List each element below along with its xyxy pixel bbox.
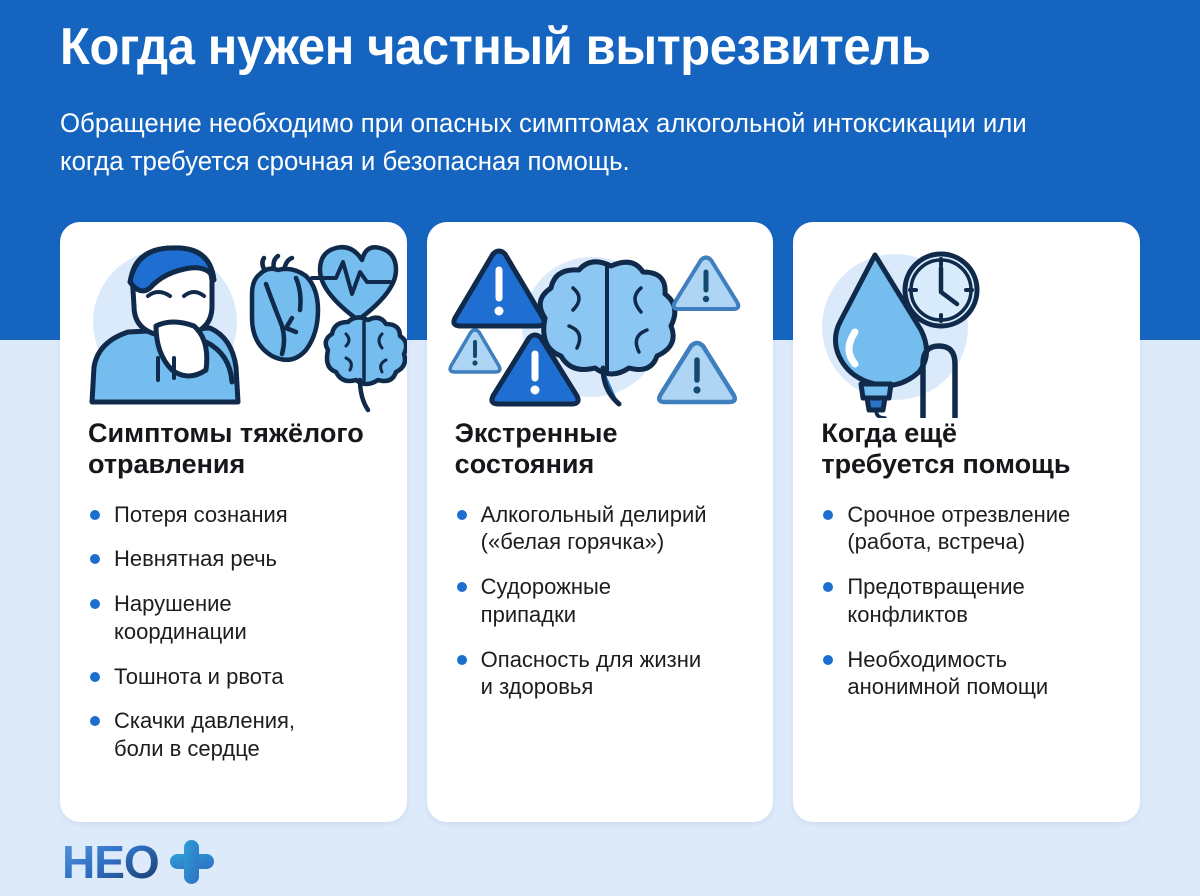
logo-plus-icon — [170, 840, 214, 884]
card-severe-poisoning[interactable]: Симптомы тяжёлого отравления Потеря созн… — [60, 222, 407, 822]
list-item: Скачки давления, боли в сердце — [88, 707, 381, 762]
card-other-help[interactable]: Когда ещё требуется помощь Срочное отрез… — [793, 222, 1140, 822]
card-emergency-states[interactable]: Экстренные состояния Алкогольный делирий… — [427, 222, 774, 822]
warning-triangle-icon — [673, 258, 738, 310]
logo-text: НЕО — [62, 840, 159, 886]
list-item: Тошнота и рвота — [88, 663, 381, 691]
warning-triangle-icon — [659, 343, 735, 402]
card-2-heading: Экстренные состояния — [455, 418, 748, 481]
card-2-illustration — [427, 222, 774, 418]
list-item: Алкогольный делирий («белая горячка») — [455, 501, 748, 556]
page-title: Когда нужен частный вытрезвитель — [60, 18, 1094, 76]
list-item: Потеря сознания — [88, 501, 381, 529]
card-2-body: Экстренные состояния Алкогольный делирий… — [427, 418, 774, 738]
clock-icon — [905, 254, 977, 326]
list-item: Невнятная речь — [88, 545, 381, 573]
brain-icon — [326, 317, 407, 410]
list-item: Предотвращение конфликтов — [821, 573, 1114, 628]
card-1-bullet-list: Потеря сознания Невнятная речь Нарушение… — [88, 501, 381, 763]
card-1-heading: Симптомы тяжёлого отравления — [88, 418, 381, 481]
page-subtitle: Обращение необходимо при опасных симптом… — [60, 104, 1082, 181]
card-3-bullet-list: Срочное отрезвление (работа, встреча) Пр… — [821, 501, 1114, 701]
card-3-heading: Когда ещё требуется помощь — [821, 418, 1114, 481]
heartbeat-heart-icon — [312, 247, 396, 320]
cards-row: Симптомы тяжёлого отравления Потеря созн… — [60, 222, 1140, 822]
card-2-bullet-list: Алкогольный делирий («белая горячка») Су… — [455, 501, 748, 701]
anatomical-heart-icon — [252, 256, 318, 360]
list-item: Судорожные припадки — [455, 573, 748, 628]
warning-triangle-icon — [454, 251, 544, 326]
list-item: Срочное отрезвление (работа, встреча) — [821, 501, 1114, 556]
warning-triangle-icon — [450, 330, 500, 372]
card-3-illustration — [793, 222, 1140, 418]
list-item: Нарушение координации — [88, 590, 381, 645]
brand-logo[interactable]: НЕО — [62, 841, 242, 885]
list-item: Опасность для жизни и здоровья — [455, 646, 748, 701]
list-item: Необходимость анонимной помощи — [821, 646, 1114, 701]
card-1-illustration — [60, 222, 407, 418]
card-3-body: Когда ещё требуется помощь Срочное отрез… — [793, 418, 1140, 738]
card-1-body: Симптомы тяжёлого отравления Потеря созн… — [60, 418, 407, 800]
